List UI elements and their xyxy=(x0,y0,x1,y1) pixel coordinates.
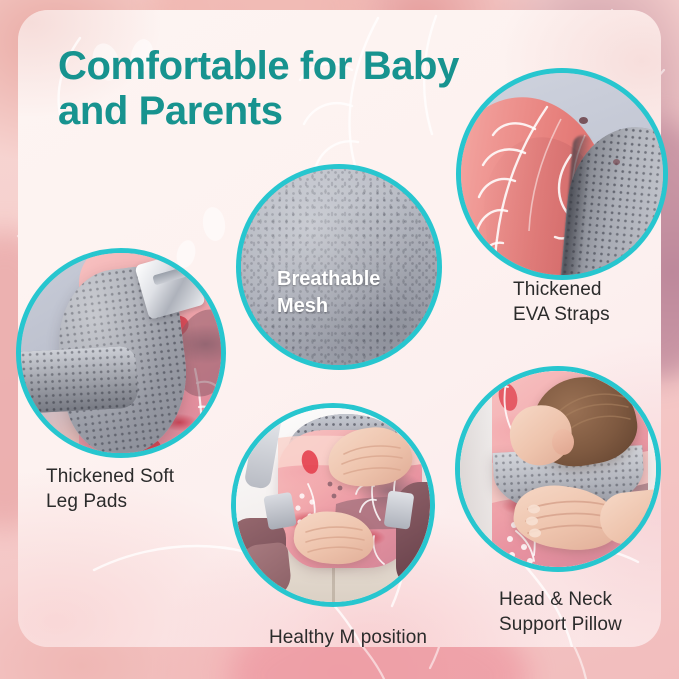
buckle-strap-left xyxy=(263,492,296,530)
leg-pad-dark-strap xyxy=(16,346,139,415)
parent-hand-lower-fingers xyxy=(294,512,380,570)
strap-detail-dot-2 xyxy=(613,159,620,165)
support-pillow-photo xyxy=(460,371,656,567)
parent-hand-upper-fingers xyxy=(328,428,418,492)
baby-ear xyxy=(552,429,574,455)
dark-strap-shading xyxy=(16,346,139,415)
eva-straps-photo xyxy=(461,73,663,275)
leg-pads-photo xyxy=(21,253,221,453)
strap-detail-dot xyxy=(579,117,588,124)
support-pillow-photo-circle[interactable] xyxy=(455,366,661,572)
m-position-photo-circle[interactable] xyxy=(231,403,435,607)
eva-straps-caption: Thickened EVA Straps xyxy=(513,277,679,327)
buckle-strap-right xyxy=(384,490,415,529)
m-position-caption: Healthy M position xyxy=(233,625,463,650)
breathable-mesh-overlay-label: Breathable Mesh xyxy=(277,266,437,320)
page-title: Comfortable for Baby and Parents xyxy=(58,44,528,134)
m-position-photo xyxy=(236,408,430,602)
support-pillow-caption: Head & Neck Support Pillow xyxy=(499,587,679,637)
leg-pads-photo-circle[interactable] xyxy=(16,248,226,458)
infographic-canvas: Comfortable for Baby and Parents Breatha… xyxy=(0,0,679,679)
eva-straps-photo-circle[interactable] xyxy=(456,68,668,280)
